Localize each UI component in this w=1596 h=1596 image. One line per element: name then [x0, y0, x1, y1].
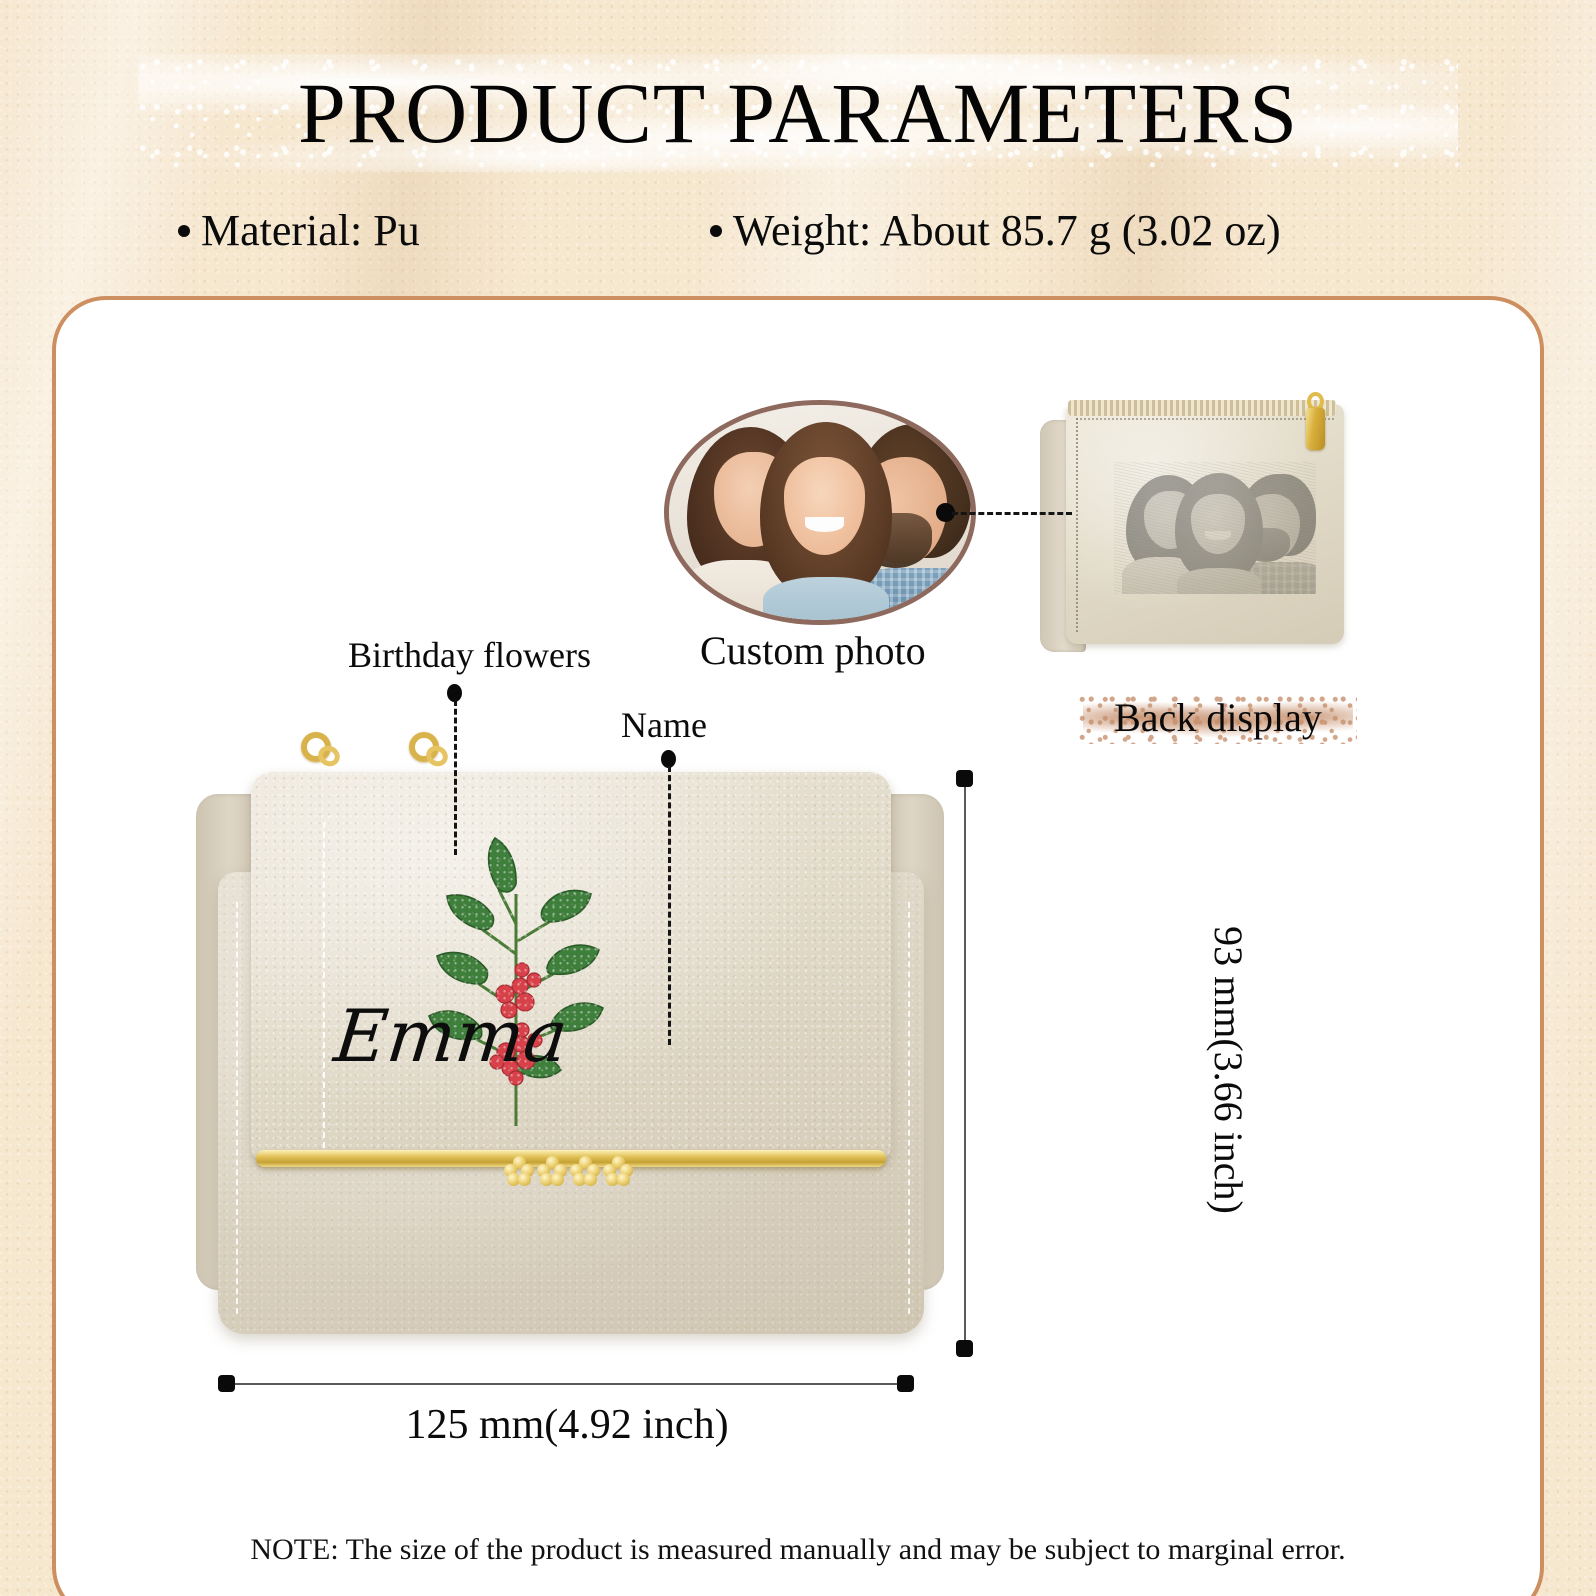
dimension-line-width [228, 1383, 906, 1385]
engrave-background [1114, 462, 1316, 594]
dimension-label-width: 125 mm(4.92 inch) [228, 1398, 906, 1452]
engrave-woman-body [1177, 568, 1262, 594]
wallet-flap-stitch [323, 814, 891, 1162]
spec-weight: Weight: About 85.7 g (3.02 oz) [710, 202, 1281, 260]
back-wallet-stitch-left [1076, 418, 1078, 632]
holly-sprig-icon [421, 834, 611, 1134]
main-wallet [196, 752, 946, 1352]
custom-photo-oval [664, 400, 976, 625]
dimension-label-height: 93 mm(3.66 inch) [1204, 900, 1252, 1240]
bullet-icon [710, 225, 722, 237]
wallet-body-stitch-left [236, 902, 238, 1314]
wallet-clasp-beads [504, 1156, 633, 1186]
woman-body [763, 577, 890, 620]
flower-bead-icon [603, 1156, 633, 1186]
flower-bead-icon [504, 1156, 534, 1186]
flower-bead-icon [570, 1156, 600, 1186]
wallet-body-stitch-right [908, 902, 910, 1314]
engrave-man-body [1235, 562, 1316, 594]
engrave-girl-face [1144, 491, 1197, 549]
bullet-icon [178, 225, 190, 237]
engrave-man-face [1239, 494, 1300, 560]
header: PRODUCT PARAMETERS Material: Pu Weight: … [0, 0, 1596, 285]
dimension-cap-top [956, 770, 973, 787]
engrave-girl-hair [1126, 475, 1211, 575]
back-display-label: Back display [1083, 690, 1353, 746]
page-title-wrapper: PRODUCT PARAMETERS [138, 58, 1458, 168]
back-wallet-stitch-top [1076, 418, 1334, 420]
footer-note: NOTE: The size of the product is measure… [0, 1530, 1596, 1570]
callout-birthday-flowers: Birthday flowers [348, 633, 591, 677]
engrave-woman-hair [1175, 473, 1264, 581]
engraved-photo [1114, 462, 1316, 594]
page-title: PRODUCT PARAMETERS [138, 58, 1458, 168]
spec-material-label: Material: Pu [201, 202, 420, 260]
zipper-icon [1068, 400, 1336, 416]
dimension-line-height [964, 782, 966, 1348]
callout-custom-photo: Custom photo [700, 629, 926, 673]
leader-line-flowers [454, 700, 457, 855]
zipper-pull-icon [1302, 392, 1328, 454]
engrave-girl-body [1122, 557, 1203, 594]
zipper-tab [1306, 408, 1325, 450]
engrave-man-beard [1241, 528, 1289, 562]
spec-weight-label: Weight: About 85.7 g (3.02 oz) [733, 202, 1281, 260]
family-photo [669, 405, 971, 620]
woman-smile [805, 517, 844, 532]
leader-line-name [668, 766, 671, 1045]
flower-bead-icon [537, 1156, 567, 1186]
dimension-cap-right [897, 1375, 914, 1392]
engraved-name: Emma [331, 995, 572, 1077]
engrave-man-hair [1239, 474, 1316, 556]
dimension-cap-left [218, 1375, 235, 1392]
back-display-wallet [1040, 378, 1350, 668]
spec-row: Material: Pu Weight: About 85.7 g (3.02 … [0, 198, 1596, 268]
leader-line-photo [952, 512, 1072, 515]
spec-material: Material: Pu [178, 202, 420, 260]
dimension-cap-bottom [956, 1340, 973, 1357]
engrave-woman-face [1191, 494, 1246, 555]
wallet-flap [251, 772, 891, 1162]
engrave-woman-smile [1205, 531, 1231, 540]
engraved-family-photo [1114, 462, 1316, 594]
back-display-badge: Back display [1083, 690, 1353, 746]
callout-name: Name [621, 703, 707, 747]
